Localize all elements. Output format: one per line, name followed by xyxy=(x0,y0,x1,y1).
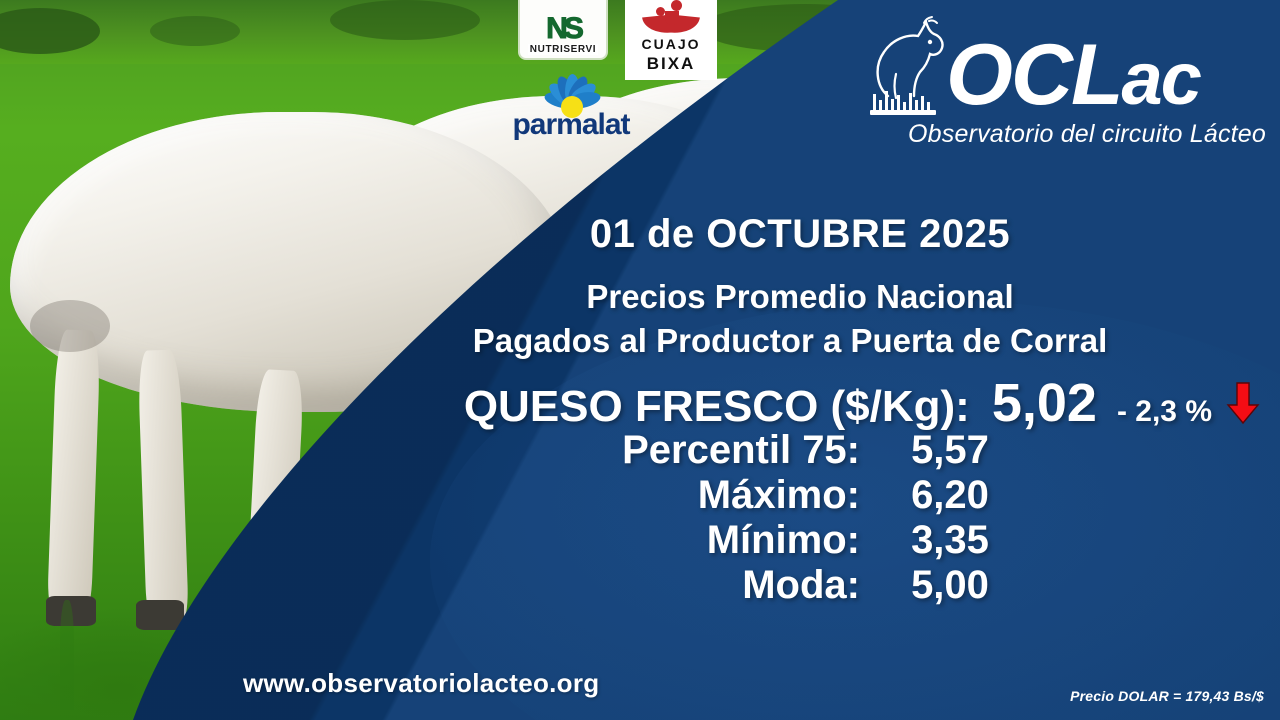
oclac-wordmark-lower: ac xyxy=(1122,37,1200,120)
stat-value-maximo: 6,20 xyxy=(860,473,1040,518)
cuajo-wordmark-line1: CUAJO xyxy=(641,36,700,52)
stat-label-percentil-75: Percentil 75: xyxy=(520,428,860,473)
parmalat-flower-icon xyxy=(519,72,623,114)
oclac-wordmark: OCLac xyxy=(946,36,1200,118)
grass-icon xyxy=(870,91,936,115)
report-subtitle-line2: Pagados al Productor a Puerta de Corral xyxy=(340,322,1240,360)
oclac-wordmark-upper: OCL xyxy=(946,27,1122,123)
cuajo-wordmark-line2: BIXA xyxy=(647,54,696,74)
main-price-row: QUESO FRESCO ($/Kg): 5,02 - 2,3 % xyxy=(300,372,1260,434)
table-row: Percentil 75: 5,57 xyxy=(520,428,1040,473)
stat-value-minimo: 3,35 xyxy=(860,518,1040,563)
sponsor-logo-cuajo-bixa[interactable]: CUAJO BIXA xyxy=(625,0,717,80)
stat-label-minimo: Mínimo: xyxy=(520,518,860,563)
product-price-value: 5,02 xyxy=(992,372,1097,434)
product-price-label: QUESO FRESCO ($/Kg): xyxy=(464,382,970,432)
cow-outline-icon xyxy=(866,14,952,118)
nutriservi-wordmark: NUTRISERVI xyxy=(528,44,598,55)
nutriservi-monogram: NS xyxy=(546,14,580,44)
price-statistics-table: Percentil 75: 5,57 Máximo: 6,20 Mínimo: … xyxy=(300,428,1260,608)
photo-bush xyxy=(150,16,240,46)
table-row: Máximo: 6,20 xyxy=(520,473,1040,518)
sponsor-logo-parmalat[interactable]: parmalat xyxy=(508,72,634,144)
arrow-down-icon xyxy=(1226,381,1260,425)
report-date: 01 de OCTUBRE 2025 xyxy=(360,212,1240,257)
report-subtitle-line1: Precios Promedio Nacional xyxy=(360,278,1240,316)
stat-label-moda: Moda: xyxy=(520,563,860,608)
sponsor-logo-nutriservi[interactable]: NS NUTRISERVI xyxy=(518,0,608,60)
stat-label-maximo: Máximo: xyxy=(520,473,860,518)
table-row: Mínimo: 3,35 xyxy=(520,518,1040,563)
photo-bush xyxy=(330,0,480,40)
oclac-tagline: Observatorio del circuito Lácteo xyxy=(866,120,1266,149)
table-row: Moda: 5,00 xyxy=(520,563,1040,608)
stat-value-moda: 5,00 xyxy=(860,563,1040,608)
oclac-brand[interactable]: OCLac Observatorio del circuito Lácteo xyxy=(866,14,1266,164)
website-url[interactable]: www.observatoriolacteo.org xyxy=(243,668,599,699)
cuajo-bixa-mark-icon xyxy=(643,0,699,34)
stat-value-percentil-75: 5,57 xyxy=(860,428,1040,473)
infographic-canvas: NS NUTRISERVI CUAJO BIXA parmalat xyxy=(0,0,1280,720)
dollar-rate-note: Precio DOLAR = 179,43 Bs/$ xyxy=(1070,688,1264,704)
price-change-percent: - 2,3 % xyxy=(1117,395,1212,429)
